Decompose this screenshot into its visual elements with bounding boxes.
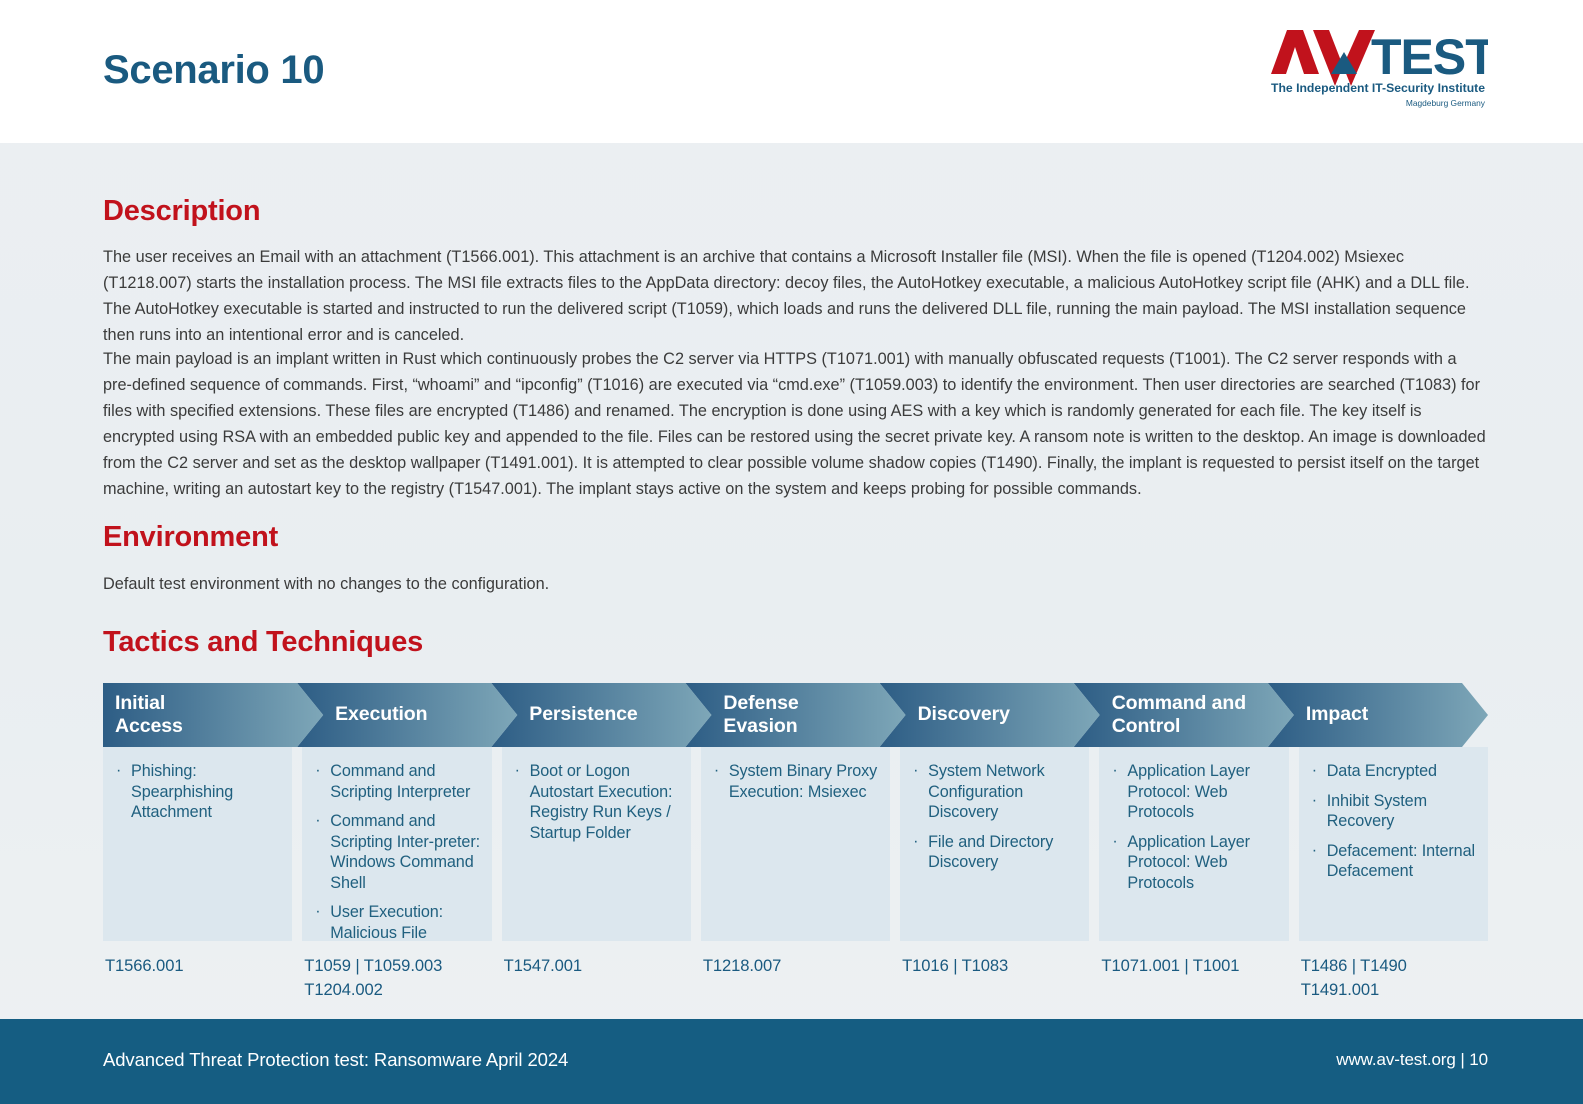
technique-item: ·Inhibit System Recovery <box>1311 791 1478 832</box>
tactic-label-persistence: Persistence <box>529 703 637 726</box>
technique-list: ·Data Encrypted·Inhibit System Recovery·… <box>1299 747 1488 882</box>
tactic-label-impact: Impact <box>1306 703 1368 726</box>
bullet-icon: · <box>1112 761 1117 782</box>
technique-label: Phishing: Spearphishing Attachment <box>131 762 233 821</box>
tactic-label-discovery: Discovery <box>918 703 1010 726</box>
technique-label: System Network Configuration Discovery <box>928 762 1044 821</box>
technique-item: ·File and Directory Discovery <box>912 832 1079 873</box>
description-paragraph-2: The main payload is an implant written i… <box>103 346 1488 502</box>
bullet-icon: · <box>714 761 719 782</box>
technique-label: User Execution: Malicious File <box>330 903 443 942</box>
technique-column-command-and-control: ·Application Layer Protocol: Web Protoco… <box>1099 747 1288 941</box>
environment-text: Default test environment with no changes… <box>103 571 1488 597</box>
tactic-label-initial-access: Initial Access <box>115 692 183 738</box>
technique-column-initial-access: ·Phishing: Spearphishing Attachment <box>103 747 292 941</box>
bullet-icon: · <box>315 902 320 923</box>
technique-item: ·User Execution: Malicious File <box>314 902 481 943</box>
footer-test-name: Advanced Threat Protection test: Ransomw… <box>103 1049 568 1071</box>
svg-text:The Independent IT-Security In: The Independent IT-Security Institute <box>1271 81 1485 95</box>
technique-item: ·Command and Scripting Interpreter <box>314 761 481 802</box>
av-test-logo: TEST The Independent IT-Security Institu… <box>1263 22 1488 112</box>
bullet-icon: · <box>515 761 520 782</box>
technique-item: ·Application Layer Protocol: Web Protoco… <box>1111 761 1278 823</box>
technique-label: Boot or Logon Autostart Execution: Regis… <box>530 762 673 842</box>
tactics-heading: Tactics and Techniques <box>103 626 423 659</box>
technique-ids-persistence: T1547.001 <box>504 954 703 978</box>
technique-label: System Binary Proxy Execution: Msiexec <box>729 762 877 801</box>
technique-column-defense-evasion: ·System Binary Proxy Execution: Msiexec <box>701 747 890 941</box>
technique-label: Data Encrypted <box>1327 762 1437 780</box>
technique-ids-impact: T1486 | T1490 T1491.001 <box>1301 954 1500 1002</box>
page-header: Scenario 10 TEST The Independent IT-Secu… <box>0 0 1583 143</box>
description-heading: Description <box>103 195 260 228</box>
technique-ids-initial-access: T1566.001 <box>105 954 304 978</box>
technique-column-execution: ·Command and Scripting Interpreter·Comma… <box>302 747 491 941</box>
tactic-label-command-and-control: Command and Control <box>1112 692 1246 738</box>
bullet-icon: · <box>913 832 918 853</box>
page-title: Scenario 10 <box>103 48 324 93</box>
technique-list: ·Boot or Logon Autostart Execution: Regi… <box>502 747 691 843</box>
technique-list: ·Command and Scripting Interpreter·Comma… <box>302 747 491 943</box>
technique-list: ·System Binary Proxy Execution: Msiexec <box>701 747 890 802</box>
bullet-icon: · <box>913 761 918 782</box>
bullet-icon: · <box>1312 791 1317 812</box>
page-content: Description The user receives an Email w… <box>0 143 1583 1019</box>
technique-label: Command and Scripting Inter-preter: Wind… <box>330 812 480 892</box>
technique-columns: ·Phishing: Spearphishing AttachmentT1566… <box>103 747 1488 1003</box>
technique-ids-defense-evasion: T1218.007 <box>703 954 902 978</box>
technique-item: ·System Network Configuration Discovery <box>912 761 1079 823</box>
tactic-chevron <box>1268 683 1488 747</box>
technique-ids-execution: T1059 | T1059.003 T1204.002 <box>304 954 503 1002</box>
technique-ids-command-and-control: T1071.001 | T1001 <box>1101 954 1300 978</box>
technique-column-discovery: ·System Network Configuration Discovery·… <box>900 747 1089 941</box>
technique-item: ·Data Encrypted <box>1311 761 1478 782</box>
technique-list: ·Phishing: Spearphishing Attachment <box>103 747 292 823</box>
technique-label: Inhibit System Recovery <box>1327 792 1427 831</box>
footer-url-and-page[interactable]: www.av-test.org | 10 <box>1336 1050 1488 1070</box>
bullet-icon: · <box>1112 832 1117 853</box>
technique-list: ·Application Layer Protocol: Web Protoco… <box>1099 747 1288 893</box>
technique-column-impact: ·Data Encrypted·Inhibit System Recovery·… <box>1299 747 1488 941</box>
technique-item: ·System Binary Proxy Execution: Msiexec <box>713 761 880 802</box>
technique-item: ·Defacement: Internal Defacement <box>1311 841 1478 882</box>
tactic-chevron-strip: Initial AccessExecutionPersistenceDefens… <box>103 683 1488 747</box>
bullet-icon: · <box>1312 841 1317 862</box>
svg-text:TEST: TEST <box>1371 29 1488 85</box>
bullet-icon: · <box>315 761 320 782</box>
technique-label: Defacement: Internal Defacement <box>1327 842 1475 881</box>
technique-label: Application Layer Protocol: Web Protocol… <box>1127 833 1249 892</box>
technique-label: Command and Scripting Interpreter <box>330 762 470 801</box>
svg-text:Magdeburg Germany: Magdeburg Germany <box>1406 98 1486 108</box>
technique-item: ·Application Layer Protocol: Web Protoco… <box>1111 832 1278 894</box>
description-paragraph-1: The user receives an Email with an attac… <box>103 244 1488 348</box>
technique-list: ·System Network Configuration Discovery·… <box>900 747 1089 873</box>
technique-item: ·Phishing: Spearphishing Attachment <box>115 761 282 823</box>
technique-item: ·Command and Scripting Inter-preter: Win… <box>314 811 481 893</box>
tactic-label-execution: Execution <box>335 703 427 726</box>
document-page: Scenario 10 TEST The Independent IT-Secu… <box>0 0 1583 1104</box>
technique-label: Application Layer Protocol: Web Protocol… <box>1127 762 1249 821</box>
technique-ids-discovery: T1016 | T1083 <box>902 954 1101 978</box>
tactics-and-techniques-chart: Initial AccessExecutionPersistenceDefens… <box>103 683 1488 1003</box>
tactic-label-defense-evasion: Defense Evasion <box>723 692 798 738</box>
technique-label: File and Directory Discovery <box>928 833 1053 872</box>
technique-item: ·Boot or Logon Autostart Execution: Regi… <box>514 761 681 843</box>
page-footer: Advanced Threat Protection test: Ransomw… <box>0 1019 1583 1104</box>
bullet-icon: · <box>315 811 320 832</box>
bullet-icon: · <box>1312 761 1317 782</box>
bullet-icon: · <box>116 761 121 782</box>
environment-heading: Environment <box>103 521 278 554</box>
technique-column-persistence: ·Boot or Logon Autostart Execution: Regi… <box>502 747 691 941</box>
